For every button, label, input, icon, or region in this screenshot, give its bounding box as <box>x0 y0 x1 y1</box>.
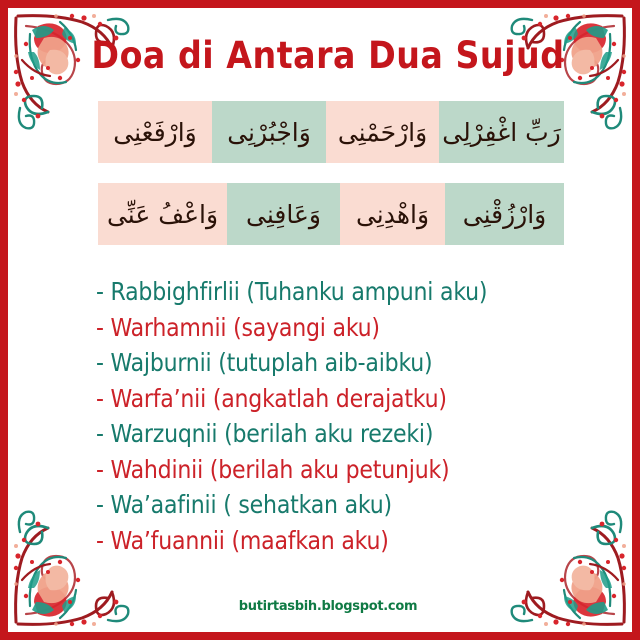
list-item: - Rabbighfirlii (Tuhanku ampuni aku) <box>96 274 596 310</box>
arabic-segment: وَارْحَمْنِى <box>326 101 439 163</box>
arabic-segment: وَارْزُقْنِى <box>445 183 564 245</box>
list-item: - Wahdinii (berilah aku petunjuk) <box>96 452 596 488</box>
list-item: - Wa’fuannii (maafkan aku) <box>96 523 596 559</box>
arabic-segment: رَبِّ اغْفِرْلِى <box>439 101 564 163</box>
arabic-segment: وَاهْدِنِى <box>340 183 445 245</box>
arabic-segment: وَاعْفُ عَنِّى <box>98 183 227 245</box>
arabic-segment: وَارْفَعْنِى <box>98 101 212 163</box>
source-watermark: butirtasbih.blogspot.com <box>8 599 640 614</box>
page-title: Doa di Antara Dua Sujud <box>8 34 640 77</box>
poster-canvas: Doa di Antara Dua Sujud رَبِّ اغْفِرْلِى… <box>0 0 640 640</box>
arabic-segment: وَعَافِنِى <box>227 183 340 245</box>
arabic-doa-block: رَبِّ اغْفِرْلِى وَارْحَمْنِى وَاجْبُرْن… <box>98 101 564 265</box>
arabic-row: رَبِّ اغْفِرْلِى وَارْحَمْنِى وَاجْبُرْن… <box>98 101 564 163</box>
arabic-row: وَارْزُقْنِى وَاهْدِنِى وَعَافِنِى وَاعْ… <box>98 183 564 245</box>
list-item: - Wajburnii (tutuplah aib-aibku) <box>96 345 596 381</box>
list-item: - Wa’aafinii ( sehatkan aku) <box>96 487 596 523</box>
list-item: - Warzuqnii (berilah aku rezeki) <box>96 416 596 452</box>
translation-list: - Rabbighfirlii (Tuhanku ampuni aku) - W… <box>96 274 596 558</box>
list-item: - Warfa’nii (angkatlah derajatku) <box>96 381 596 417</box>
list-item: - Warhamnii (sayangi aku) <box>96 310 596 346</box>
arabic-segment: وَاجْبُرْنِى <box>212 101 326 163</box>
